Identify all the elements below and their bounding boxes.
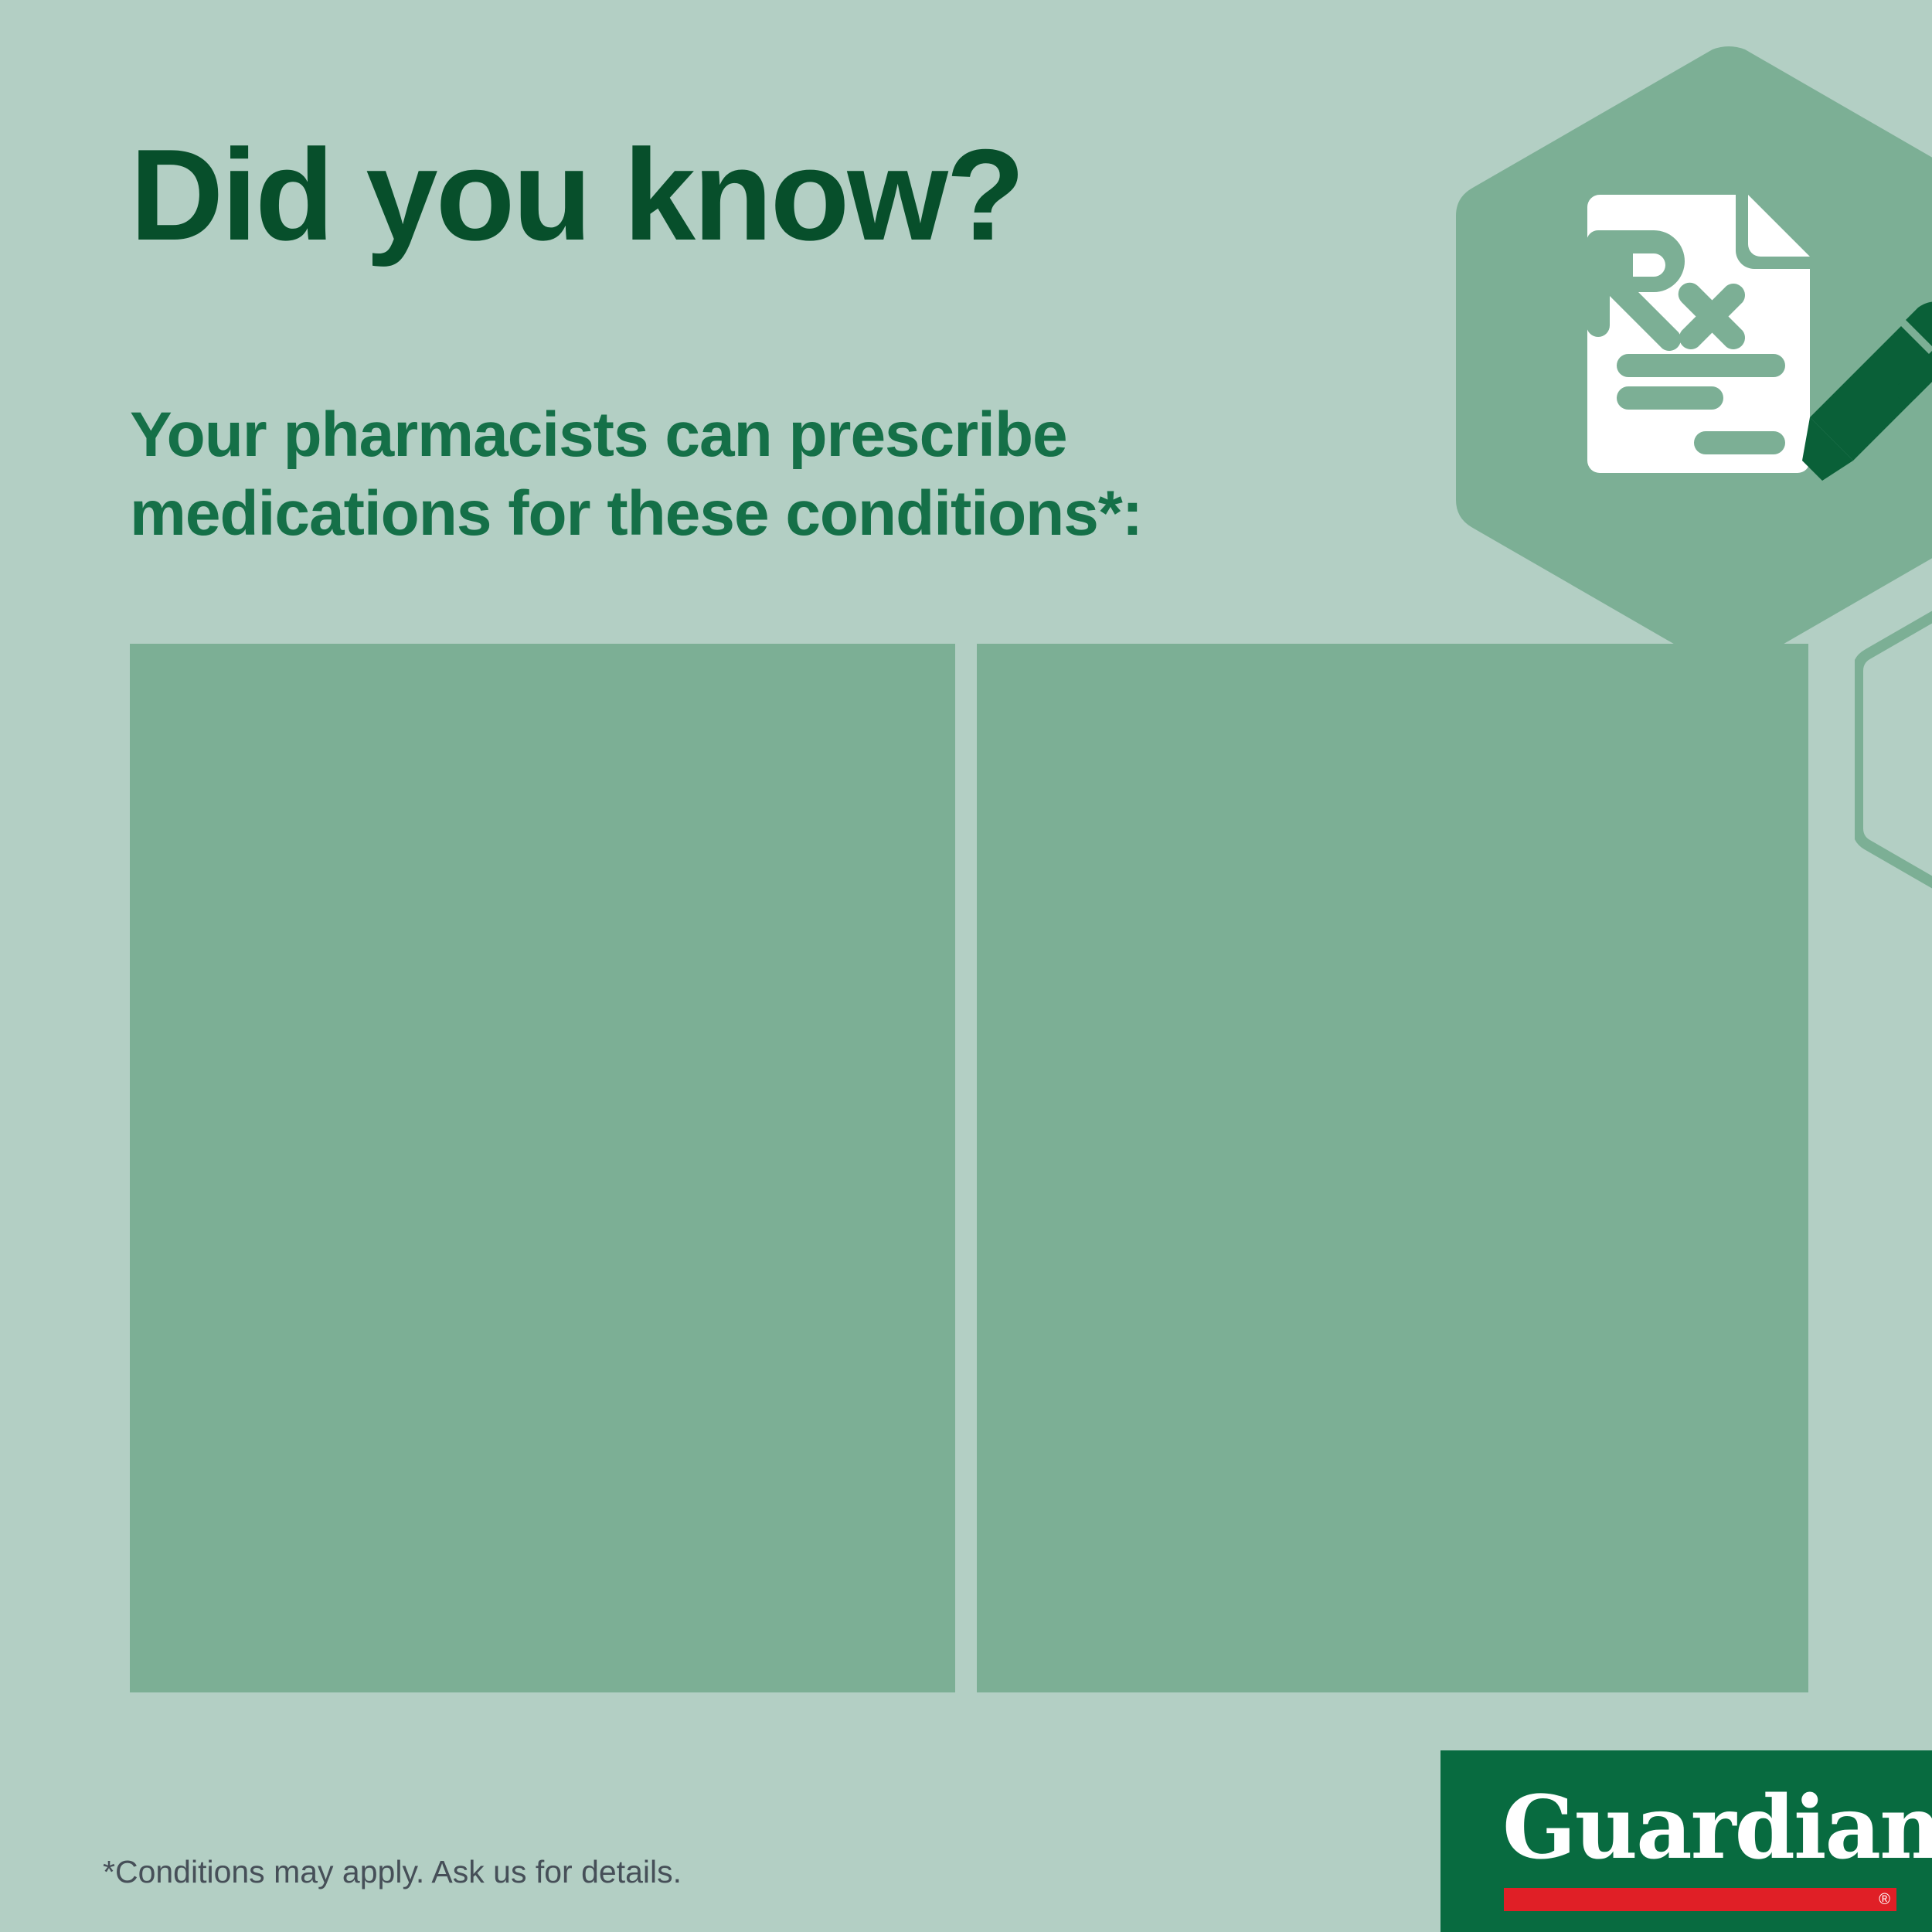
page-title: Did you know? <box>130 130 1023 260</box>
footnote-disclaimer: *Conditions may apply. Ask us for detail… <box>103 1853 682 1891</box>
page-subtitle: Your pharmacists can prescribe medicatio… <box>130 396 1289 553</box>
document-line-2 <box>1617 386 1723 410</box>
document-signature-line <box>1694 431 1785 454</box>
left-condition-panel <box>130 644 955 1692</box>
hexagon-outline-shape <box>1858 571 1932 929</box>
condition-panels <box>130 644 1808 1692</box>
guardian-logo: Guardian ® <box>1440 1750 1932 1932</box>
rx-document-icon <box>1581 195 1810 473</box>
hexagon-outline-decoration <box>1855 564 1932 935</box>
document-line-1 <box>1617 354 1785 377</box>
right-condition-panel <box>977 644 1808 1692</box>
guardian-red-rule: ® <box>1504 1888 1896 1911</box>
poster-canvas: Did you know? Your pharmacists can presc… <box>0 0 1932 1932</box>
registered-trademark-icon: ® <box>1879 1892 1890 1907</box>
guardian-wordmark: Guardian <box>1502 1785 1932 1872</box>
